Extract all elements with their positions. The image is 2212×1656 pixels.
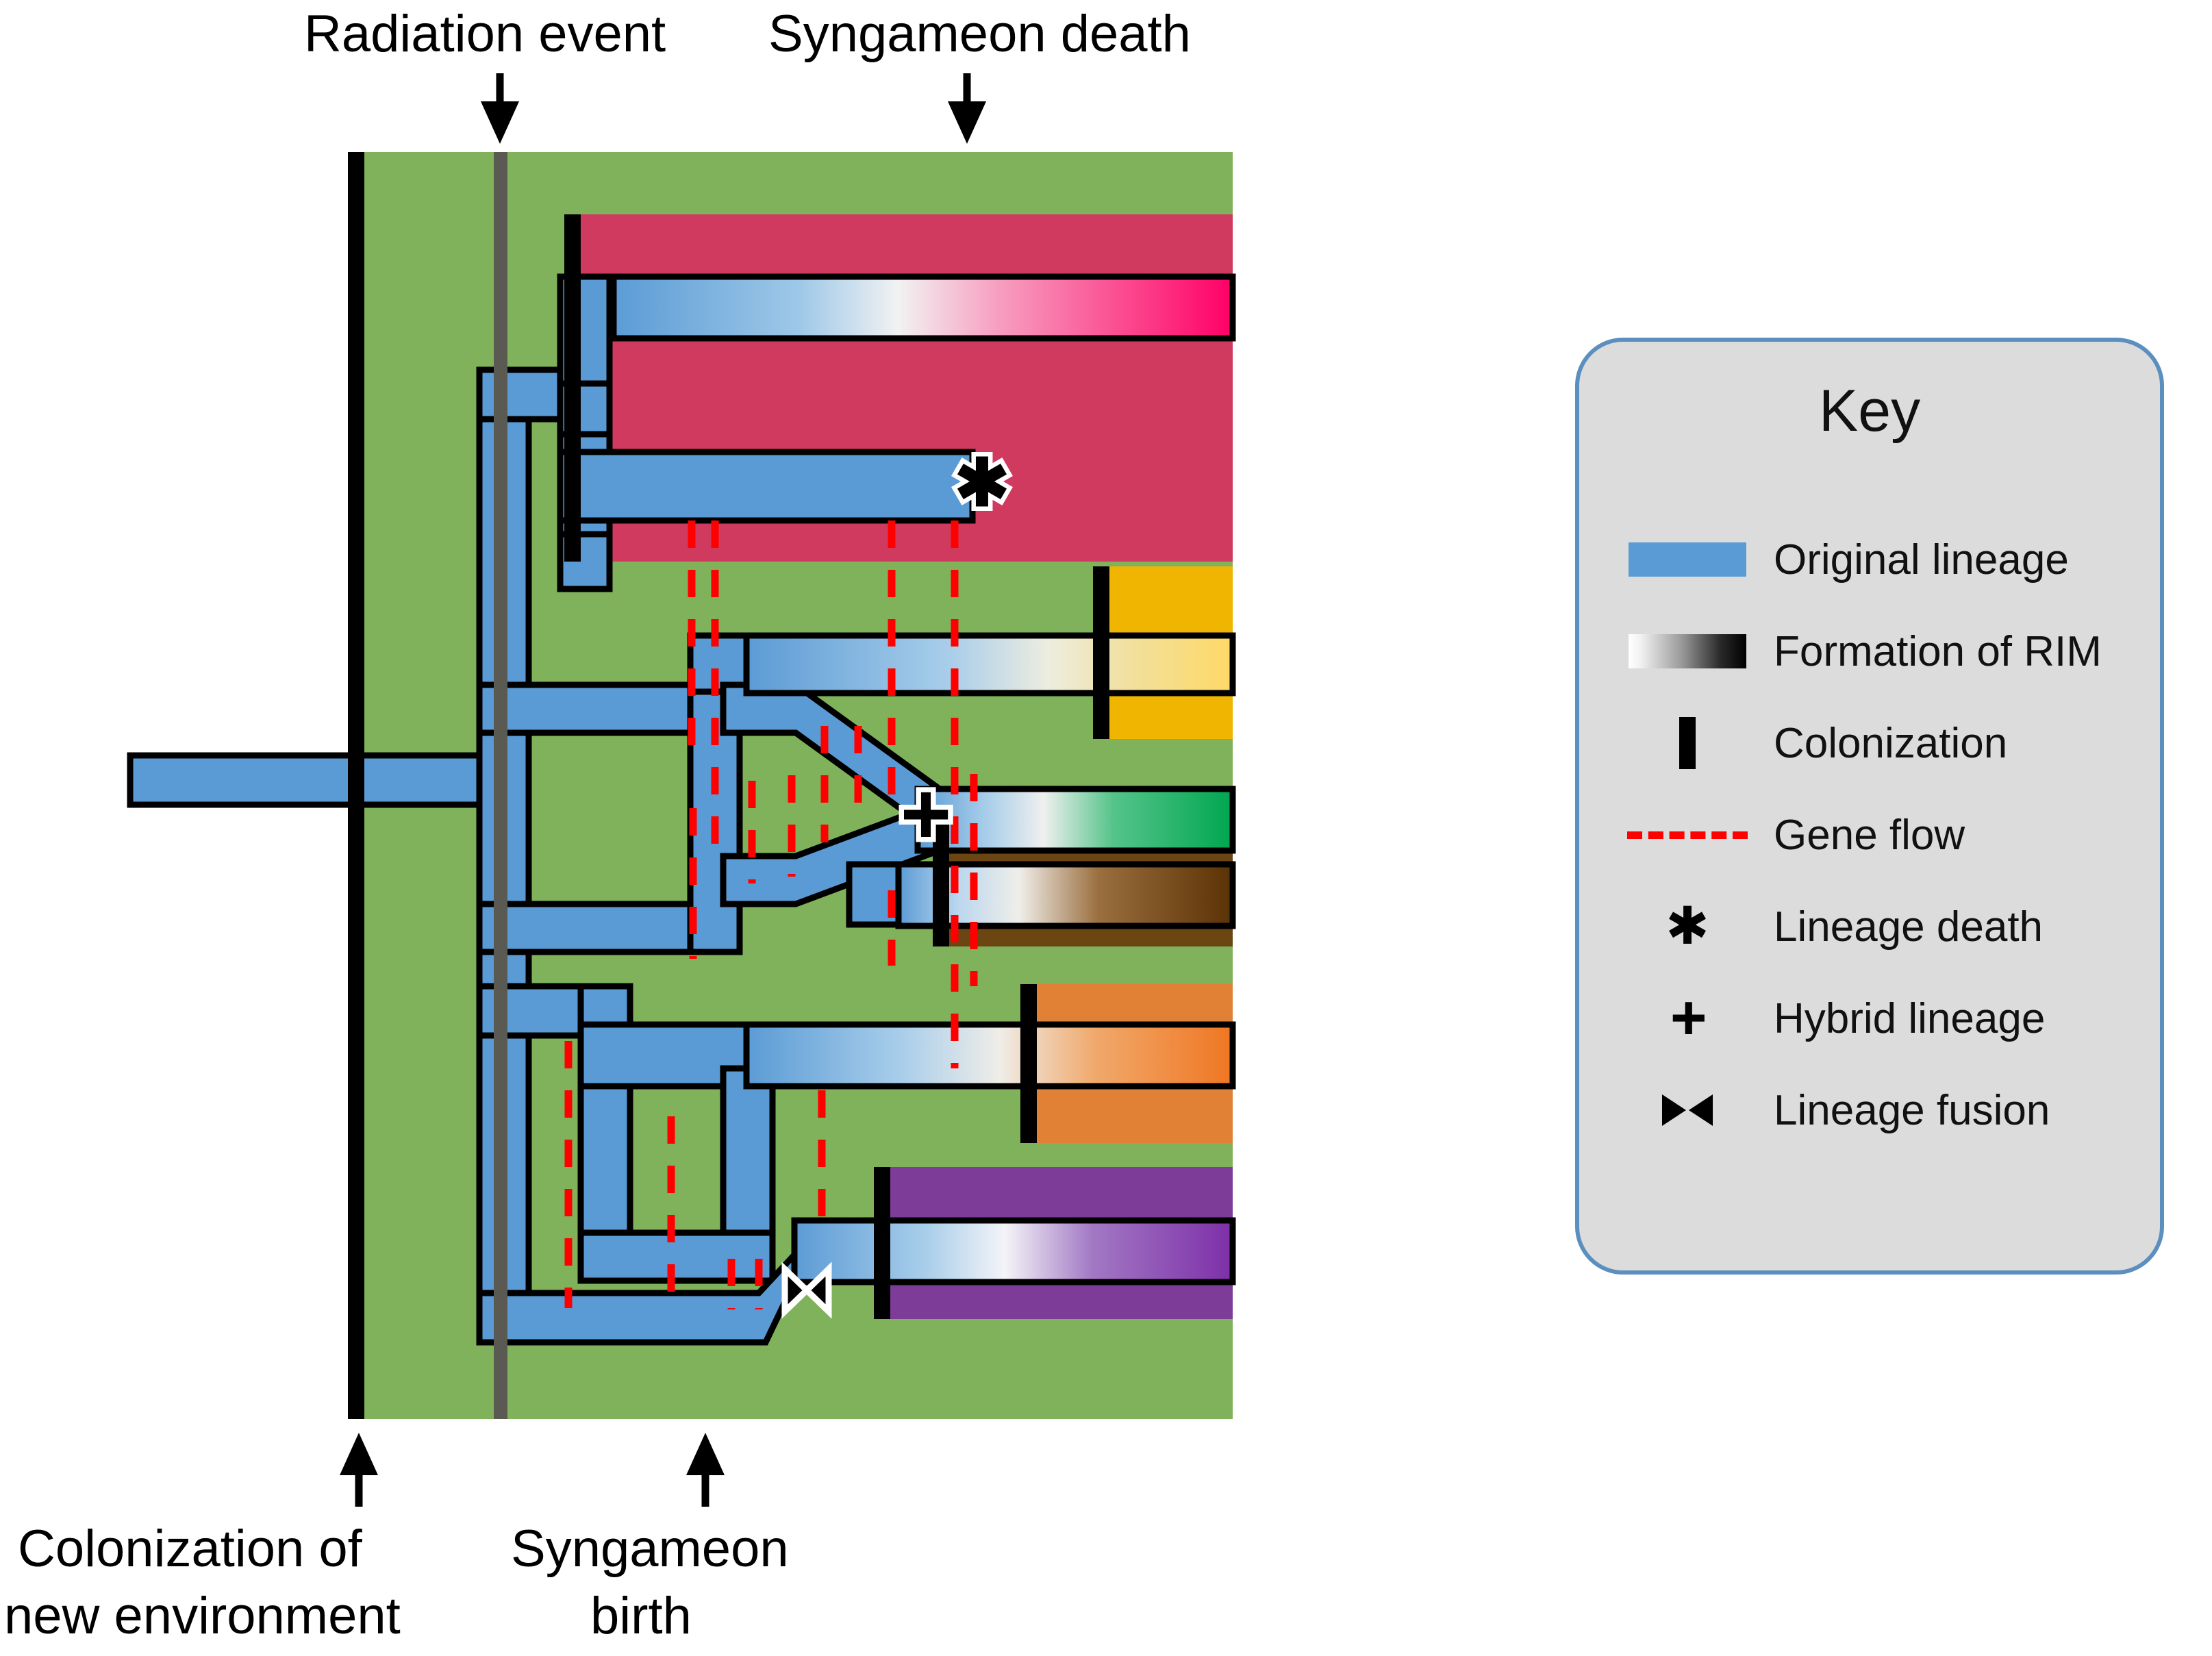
key-label-lineage-death: Lineage death bbox=[1774, 903, 2043, 951]
red-dashed-line-icon bbox=[1626, 802, 1749, 868]
key-legend-box: Key Original lineage Formation of RIM Co… bbox=[1575, 338, 2164, 1275]
key-label-formation-of-rim: Formation of RIM bbox=[1774, 627, 2102, 676]
key-row-lineage-death: ✱ Lineage death bbox=[1626, 894, 2043, 959]
svg-text:✱: ✱ bbox=[955, 447, 1009, 520]
key-row-lineage-fusion: Lineage fusion bbox=[1626, 1077, 2050, 1143]
key-row-hybrid-lineage: + Hybrid lineage bbox=[1626, 986, 2045, 1051]
lineage-death-marker: ✱ bbox=[955, 447, 1009, 520]
key-label-original-lineage: Original lineage bbox=[1774, 536, 2069, 584]
colonization-bar-orange bbox=[1020, 984, 1037, 1143]
key-row-gene-flow: Gene flow bbox=[1626, 802, 1965, 868]
terminal-bar-crimson bbox=[614, 277, 1233, 338]
black-vertical-bar-icon bbox=[1626, 710, 1749, 776]
hybrid-lineage-marker: + bbox=[901, 765, 952, 863]
colonization-bar-root bbox=[348, 152, 364, 1419]
key-title: Key bbox=[1579, 377, 2160, 445]
colonization-bar-yellow bbox=[1093, 566, 1109, 739]
terminal-bar-orange bbox=[746, 1025, 1233, 1086]
syngameon-birth-arrow bbox=[686, 1433, 725, 1507]
asterisk-icon: ✱ bbox=[1626, 894, 1749, 959]
key-row-colonization: Colonization bbox=[1626, 710, 2007, 776]
colonization-bar-purple bbox=[874, 1167, 890, 1319]
key-label-gene-flow: Gene flow bbox=[1774, 811, 1965, 860]
key-row-formation-of-rim: Formation of RIM bbox=[1626, 618, 2102, 684]
colonization-arrow bbox=[340, 1433, 378, 1507]
colonization-bar-crimson bbox=[564, 214, 581, 562]
key-row-original-lineage: Original lineage bbox=[1626, 527, 2069, 592]
plus-icon: + bbox=[1626, 986, 1749, 1051]
terminal-bar-yellow bbox=[746, 636, 1233, 693]
blue-bar-swatch-icon bbox=[1626, 527, 1749, 592]
terminal-bar-green bbox=[918, 789, 1233, 851]
syngameon-evolution-diagram: ✱ + bbox=[0, 0, 1575, 1656]
bowtie-icon bbox=[1626, 1077, 1749, 1143]
white-to-black-gradient-swatch-icon bbox=[1626, 618, 1749, 684]
svg-text:+: + bbox=[901, 765, 952, 863]
syngameon-death-arrow bbox=[948, 73, 986, 144]
radiation-event-arrow bbox=[481, 73, 519, 144]
key-label-hybrid-lineage: Hybrid lineage bbox=[1774, 994, 2045, 1043]
key-label-colonization: Colonization bbox=[1774, 719, 2007, 768]
terminal-bar-purple bbox=[794, 1220, 1233, 1282]
key-label-lineage-fusion: Lineage fusion bbox=[1774, 1086, 2050, 1135]
